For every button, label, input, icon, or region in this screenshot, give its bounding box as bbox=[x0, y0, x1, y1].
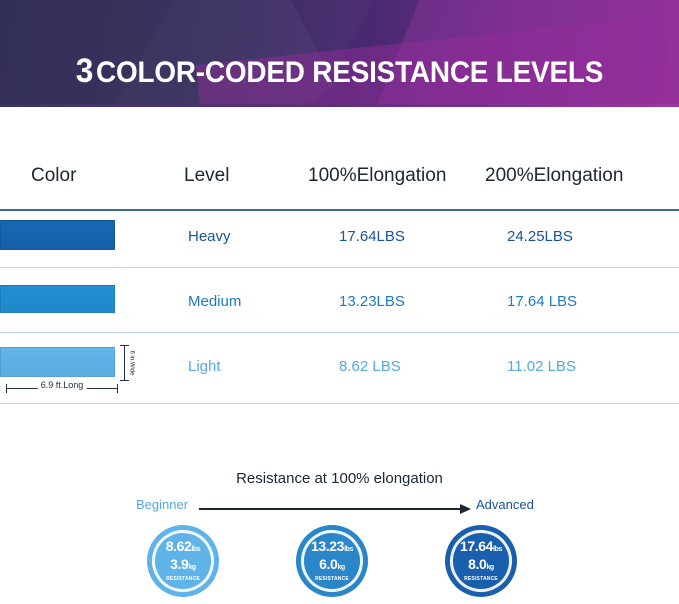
column-header-elongation-200: 200%Elongation bbox=[485, 165, 623, 187]
gauge-medium: 13.23lbs 6.0kg RESISTANCE bbox=[296, 525, 368, 597]
dimension-length-label: 6.9 ft.Long bbox=[38, 380, 87, 390]
gauge-caption: RESISTANCE bbox=[315, 576, 349, 583]
gauge-kg-unit: kg bbox=[337, 564, 344, 571]
page-title: 3COLOR-CODED RESISTANCE LEVELS bbox=[24, 52, 655, 91]
table-row: Medium 13.23LBS 17.64 LBS bbox=[0, 276, 679, 341]
cell-elongation-100-medium: 13.23LBS bbox=[339, 293, 405, 310]
progression-title: Resistance at 100% elongation bbox=[0, 470, 679, 487]
gauge-lbs-row: 8.62lbs bbox=[166, 539, 201, 557]
gauge-group: 8.62lbs 3.9kg RESISTANCE 13.23lbs 6.0kg … bbox=[0, 525, 679, 599]
row-divider bbox=[0, 332, 679, 333]
gauge-kg-row: 3.9kg bbox=[170, 557, 196, 575]
gauge-light: 8.62lbs 3.9kg RESISTANCE bbox=[147, 525, 219, 597]
dimension-width-cap-bottom bbox=[120, 380, 129, 381]
gauge-lbs-value: 17.64 bbox=[460, 538, 493, 554]
gauge-kg-row: 8.0kg bbox=[468, 557, 494, 575]
dimension-length-annotation: 6.9 ft.Long bbox=[6, 381, 118, 395]
band-swatch-heavy bbox=[0, 220, 115, 250]
gauge-kg-value: 8.0 bbox=[468, 556, 486, 572]
band-swatch-light bbox=[0, 347, 115, 377]
dimension-width-line bbox=[124, 345, 125, 381]
row-divider bbox=[0, 403, 679, 404]
gauge-kg-unit: kg bbox=[188, 564, 195, 571]
table-header-row: Color Level 100%Elongation 200%Elongatio… bbox=[0, 107, 679, 211]
gauge-caption: RESISTANCE bbox=[166, 576, 200, 583]
progression-arrow-head bbox=[460, 504, 471, 514]
gauge-kg-value: 3.9 bbox=[170, 556, 188, 572]
page-title-text: COLOR-CODED RESISTANCE LEVELS bbox=[96, 56, 603, 89]
gauge-inner-medium: 13.23lbs 6.0kg RESISTANCE bbox=[307, 536, 357, 586]
cell-elongation-100-light: 8.62 LBS bbox=[339, 358, 401, 375]
cell-elongation-200-light: 11.02 LBS bbox=[507, 358, 576, 375]
progression-arrow-shaft bbox=[199, 508, 465, 510]
resistance-table: Color Level 100%Elongation 200%Elongatio… bbox=[0, 107, 679, 406]
gauge-kg-unit: kg bbox=[486, 564, 493, 571]
band-swatch-medium bbox=[0, 285, 115, 313]
cell-level-heavy: Heavy bbox=[188, 228, 231, 245]
gauge-inner-heavy: 17.64lbs 8.0kg RESISTANCE bbox=[456, 536, 506, 586]
dimension-width-cap-top bbox=[120, 345, 129, 346]
cell-elongation-100-heavy: 17.64LBS bbox=[339, 228, 405, 245]
gauge-lbs-unit: lbs bbox=[493, 546, 502, 553]
gauge-heavy: 17.64lbs 8.0kg RESISTANCE bbox=[445, 525, 517, 597]
table-row: Heavy 17.64LBS 24.25LBS bbox=[0, 211, 679, 276]
cell-level-medium: Medium bbox=[188, 293, 241, 310]
gauge-caption: RESISTANCE bbox=[464, 576, 498, 583]
gauge-lbs-unit: lbs bbox=[191, 546, 200, 553]
cell-level-light: Light bbox=[188, 358, 221, 375]
cell-elongation-200-medium: 17.64 LBS bbox=[507, 293, 577, 310]
column-header-elongation-100: 100%Elongation bbox=[308, 165, 446, 187]
row-divider bbox=[0, 267, 679, 268]
gauge-lbs-value: 8.62 bbox=[166, 538, 192, 554]
gauge-kg-row: 6.0kg bbox=[319, 557, 345, 575]
dimension-length-cap-right bbox=[117, 384, 118, 393]
dimension-width-label: 6 in.Wide bbox=[129, 350, 135, 375]
gauge-kg-value: 6.0 bbox=[319, 556, 337, 572]
page-title-number: 3 bbox=[76, 52, 93, 90]
progression-end-label: Advanced bbox=[476, 497, 534, 512]
progression-arrow-icon bbox=[199, 504, 471, 514]
gauge-lbs-value: 13.23 bbox=[311, 538, 344, 554]
column-header-level: Level bbox=[184, 165, 229, 187]
progression-start-label: Beginner bbox=[136, 497, 188, 512]
table-row: 6 in.Wide 6.9 ft.Long Light 8.62 LBS 11.… bbox=[0, 341, 679, 406]
header-banner: 3COLOR-CODED RESISTANCE LEVELS bbox=[0, 0, 679, 107]
progression-section: Resistance at 100% elongation Beginner A… bbox=[0, 455, 679, 599]
gauge-inner-light: 8.62lbs 3.9kg RESISTANCE bbox=[158, 536, 208, 586]
dimension-width-annotation: 6 in.Wide bbox=[118, 345, 130, 381]
gauge-lbs-row: 13.23lbs bbox=[311, 539, 353, 557]
dimension-length-cap-left bbox=[6, 384, 7, 393]
gauge-lbs-row: 17.64lbs bbox=[460, 539, 502, 557]
cell-elongation-200-heavy: 24.25LBS bbox=[507, 228, 573, 245]
column-header-color: Color bbox=[31, 165, 76, 187]
gauge-lbs-unit: lbs bbox=[344, 546, 353, 553]
